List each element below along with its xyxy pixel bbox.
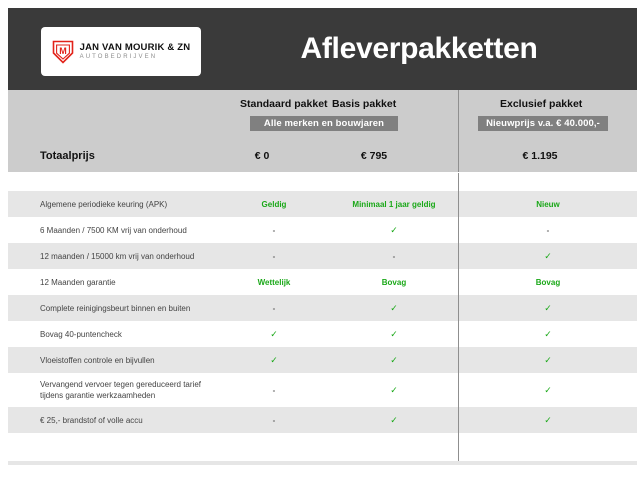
cell-standaard: -: [218, 386, 330, 395]
cell-standaard: Geldig: [218, 200, 330, 209]
cell-exclusief: ✓: [459, 303, 637, 314]
badge-nieuwprijs: Nieuwprijs v.a. € 40.000,-: [478, 116, 608, 131]
cell-exclusief: Nieuw: [459, 200, 637, 209]
cell-exclusief: Bovag: [459, 278, 637, 287]
cell-standaard: ✓: [218, 355, 330, 366]
row-label: 6 Maanden / 7500 KM vrij van onderhoud: [8, 225, 218, 236]
table-row: Algemene periodieke keuring (APK)GeldigM…: [8, 191, 637, 217]
table-row: Complete reinigingsbeurt binnen en buite…: [8, 295, 637, 321]
cell-exclusief: ✓: [459, 329, 637, 340]
badge-alle-merken: Alle merken en bouwjaren: [250, 116, 398, 131]
page-banner: M JAN VAN MOURIK & ZN AUTOBEDRIJVEN Afle…: [8, 8, 637, 90]
column-header-exclusief: Exclusief pakket: [500, 98, 582, 110]
column-header-standaard: Standaard pakket: [240, 98, 328, 110]
row-label: € 25,- brandstof of volle accu: [8, 415, 218, 426]
afleverpakketten-page: M JAN VAN MOURIK & ZN AUTOBEDRIJVEN Afle…: [0, 0, 640, 480]
table-row: 12 Maanden garantieWettelijkBovagBovag: [8, 269, 637, 295]
cell-basis: ✓: [330, 355, 458, 366]
total-price-standaard: € 0: [232, 150, 292, 162]
row-label: Vervangend vervoer tegen gereduceerd tar…: [8, 379, 218, 401]
table-row: 12 maanden / 15000 km vrij van onderhoud…: [8, 243, 637, 269]
row-label: Vloeistoffen controle en bijvullen: [8, 355, 218, 366]
table-body: Algemene periodieke keuring (APK)GeldigM…: [8, 191, 637, 433]
total-price-label: Totaalprijs: [40, 150, 95, 162]
cell-exclusief: -: [459, 226, 637, 235]
shield-m-icon: M: [52, 40, 74, 64]
logo-company-name: JAN VAN MOURIK & ZN: [80, 43, 191, 53]
row-label: 12 maanden / 15000 km vrij van onderhoud: [8, 251, 218, 262]
cell-basis: ✓: [330, 329, 458, 340]
cell-basis: ✓: [330, 385, 458, 396]
cell-standaard: -: [218, 416, 330, 425]
table-top-spacer: [8, 173, 637, 191]
cell-standaard: -: [218, 304, 330, 313]
cell-exclusief: ✓: [459, 251, 637, 262]
cell-basis: ✓: [330, 225, 458, 236]
cell-basis: -: [330, 252, 458, 261]
cell-standaard: -: [218, 226, 330, 235]
column-header-basis: Basis pakket: [332, 98, 396, 110]
table-row: Vloeistoffen controle en bijvullen✓✓✓: [8, 347, 637, 373]
cell-basis: ✓: [330, 415, 458, 426]
row-label: Bovag 40-puntencheck: [8, 329, 218, 340]
cell-exclusief: ✓: [459, 355, 637, 366]
row-label: 12 Maanden garantie: [8, 277, 218, 288]
cell-basis: Minimaal 1 jaar geldig: [330, 200, 458, 209]
cell-exclusief: ✓: [459, 385, 637, 396]
table-row: € 25,- brandstof of volle accu-✓✓: [8, 407, 637, 433]
table-row: Vervangend vervoer tegen gereduceerd tar…: [8, 373, 637, 407]
table-bottom-strip: [8, 461, 637, 465]
feature-table: Algemene periodieke keuring (APK)GeldigM…: [8, 173, 637, 465]
page-title: Afleverpakketten: [201, 8, 637, 90]
cell-basis: Bovag: [330, 278, 458, 287]
svg-text:M: M: [59, 46, 67, 56]
cell-standaard: ✓: [218, 329, 330, 340]
total-price-basis: € 795: [344, 150, 404, 162]
table-column-divider: [458, 173, 459, 465]
table-row: Bovag 40-puntencheck✓✓✓: [8, 321, 637, 347]
table-row: 6 Maanden / 7500 KM vrij van onderhoud-✓…: [8, 217, 637, 243]
total-price-exclusief: € 1.195: [505, 150, 575, 162]
cell-standaard: Wettelijk: [218, 278, 330, 287]
header-column-divider: [458, 90, 459, 172]
cell-standaard: -: [218, 252, 330, 261]
company-logo: M JAN VAN MOURIK & ZN AUTOBEDRIJVEN: [41, 27, 201, 76]
cell-basis: ✓: [330, 303, 458, 314]
row-label: Algemene periodieke keuring (APK): [8, 199, 218, 210]
logo-tagline: AUTOBEDRIJVEN: [80, 54, 191, 60]
cell-exclusief: ✓: [459, 415, 637, 426]
row-label: Complete reinigingsbeurt binnen en buite…: [8, 303, 218, 314]
